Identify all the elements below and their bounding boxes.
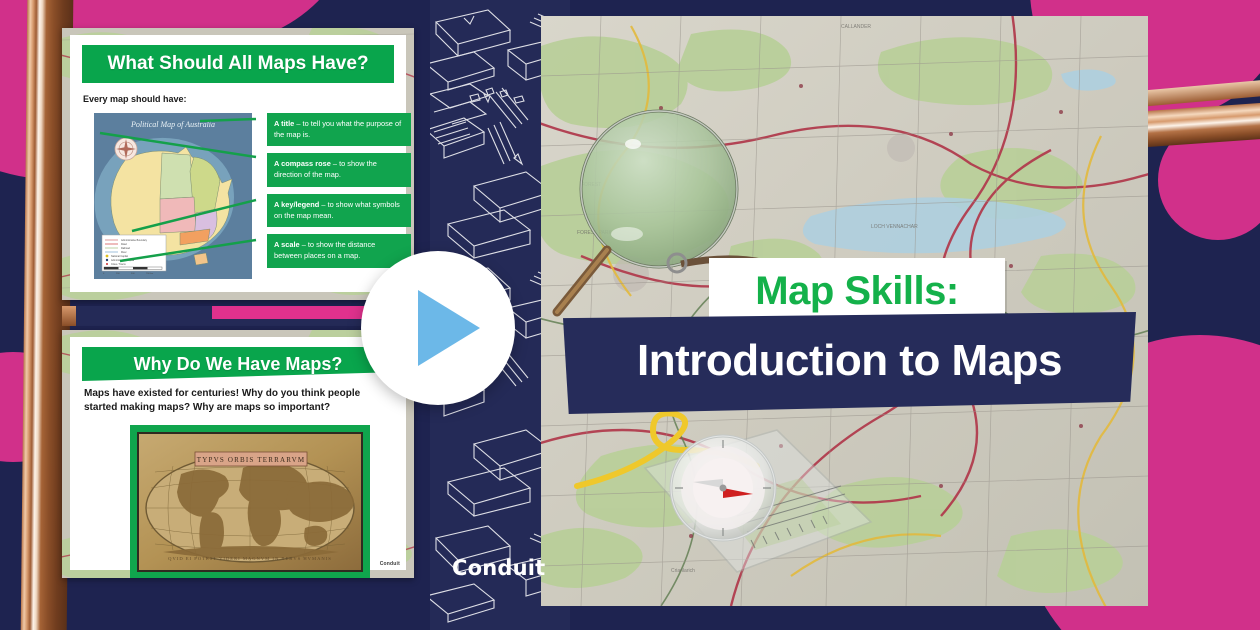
slide-thumbnail-2[interactable]: Why Do We Have Maps? Maps have existed f… [62,330,414,578]
compass-rose-icon [115,138,137,160]
australia-map-title: Political Map of Australia [130,120,215,129]
political-map-of-australia-graphic: Political Map of Australia [94,113,252,279]
slide-2-heading: Why Do We Have Maps? [82,347,394,381]
old-world-map-image: TYPVS ORBIS TERRARVM QVID EI POTEST VIDE… [137,432,363,572]
callout-item: A scale – to show the distance between p… [267,234,411,267]
callout-term: A title [274,119,294,128]
svg-text:River: River [121,251,127,254]
slide-1-callout-list: A title – to tell you what the purpose o… [267,113,411,275]
pink-dot-accent [1217,38,1234,55]
callout-dash: – [296,119,300,128]
play-triangle-icon [418,290,480,366]
svg-text:Cities / Towns: Cities / Towns [111,263,127,266]
svg-text:Road: Road [121,243,127,246]
hero-title-secondary-box: Introduction to Maps [563,312,1136,414]
map-legend: Administrative Boundary Road Railroad Ri… [102,235,166,275]
callout-item: A compass rose – to show the direction o… [267,153,411,186]
slide-2-page: Why Do We Have Maps? Maps have existed f… [70,337,406,570]
callout-dash: – [302,240,306,249]
callout-item: A key/legend – to show what symbols on t… [267,194,411,227]
australia-map-image: Political Map of Australia [94,113,252,279]
svg-text:Administrative Capital: Administrative Capital [111,259,135,262]
slide-1-intro: Every map should have: [83,93,187,105]
slide-2-intro: Maps have existed for centuries! Why do … [84,387,390,415]
typvs-orbis-terrarvm-graphic: TYPVS ORBIS TERRARVM QVID EI POTEST VIDE… [137,432,363,572]
slide-2-watermark: Conduit [380,561,400,567]
callout-term: A scale [274,240,300,249]
callout-item: A title – to tell you what the purpose o… [267,113,411,146]
svg-text:Railroad: Railroad [121,247,131,250]
play-button[interactable] [361,251,515,405]
svg-text:LOCH VENNACHAR: LOCH VENNACHAR [871,224,918,230]
hero-title-line1: Map Skills: [755,269,958,314]
slide-thumbnail-1[interactable]: What Should All Maps Have? Every map sho… [62,28,414,300]
callout-dash: – [333,159,337,168]
callout-dash: – [321,200,325,209]
svg-text:Crianlarich: Crianlarich [671,568,695,574]
svg-text:National Capital: National Capital [111,255,128,258]
hero-title-line2: Introduction to Maps [637,336,1062,386]
old-world-map-frame: TYPVS ORBIS TERRARVM QVID EI POTEST VIDE… [130,425,370,578]
slide-1-page: What Should All Maps Have? Every map sho… [70,35,406,292]
callout-term: A compass rose [274,159,331,168]
divider-band-copper [62,306,76,326]
svg-text:Administrative Boundary: Administrative Boundary [121,239,148,242]
callout-text: to tell you what the purpose of the map … [274,119,401,139]
slide-1-heading: What Should All Maps Have? [82,45,394,83]
svg-text:QVID EI POTEST VIDERI MAGNVM I: QVID EI POTEST VIDERI MAGNVM IN REBVS HV… [168,556,332,561]
poster-canvas: CALLANDER LOCH VENNACHAR FOREST FOREST P… [0,0,1260,630]
svg-text:CALLANDER: CALLANDER [841,24,871,30]
conduit-logo[interactable]: Conduit [452,556,545,580]
svg-text:750 km: 750 km [146,273,153,275]
old-map-inner-title: TYPVS ORBIS TERRARVM [197,456,306,464]
callout-term: A key/legend [274,200,319,209]
hero-photo-panel: CALLANDER LOCH VENNACHAR FOREST FOREST P… [541,16,1148,606]
